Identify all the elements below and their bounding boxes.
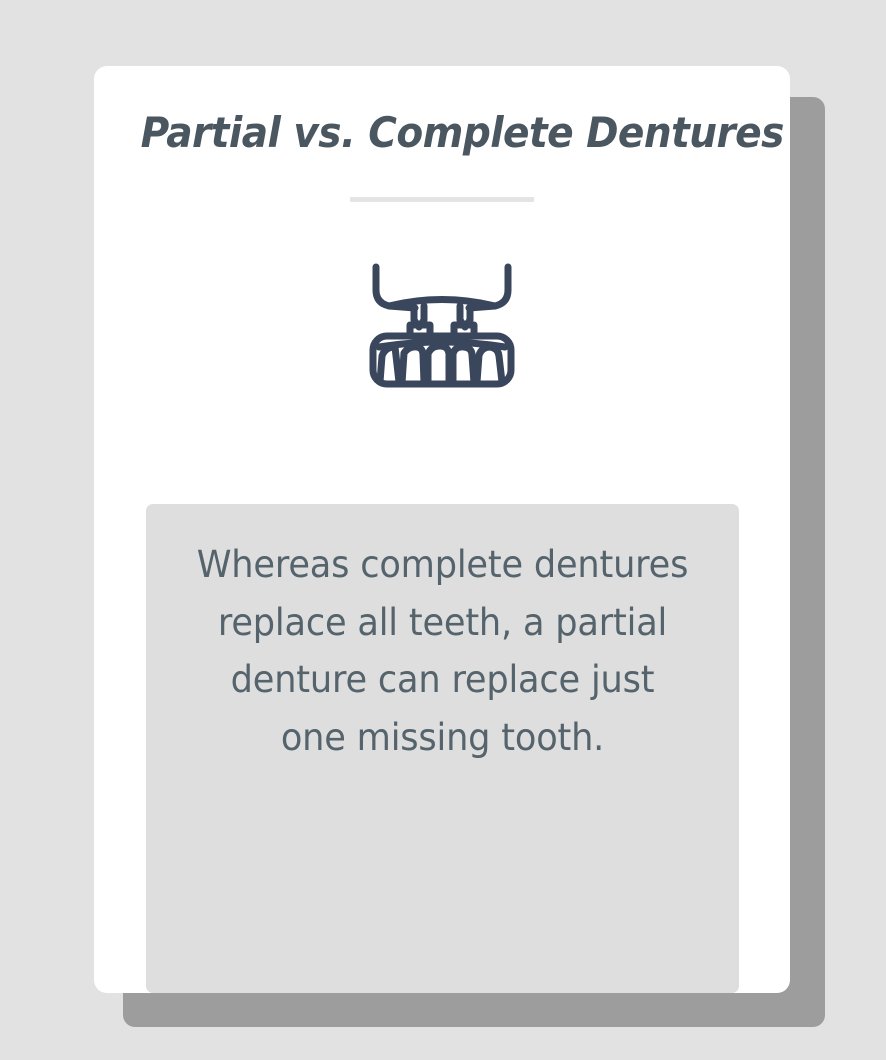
page-title: Partial vs. Complete Dentures xyxy=(118,66,765,156)
info-card: Partial vs. Complete Dentures xyxy=(94,66,790,993)
partial-denture-icon xyxy=(369,263,515,389)
description-text: Whereas complete dentures replace all te… xyxy=(195,536,690,767)
description-panel: Whereas complete dentures replace all te… xyxy=(146,504,739,993)
slide-canvas: Partial vs. Complete Dentures xyxy=(0,0,886,1060)
title-divider xyxy=(350,197,534,202)
